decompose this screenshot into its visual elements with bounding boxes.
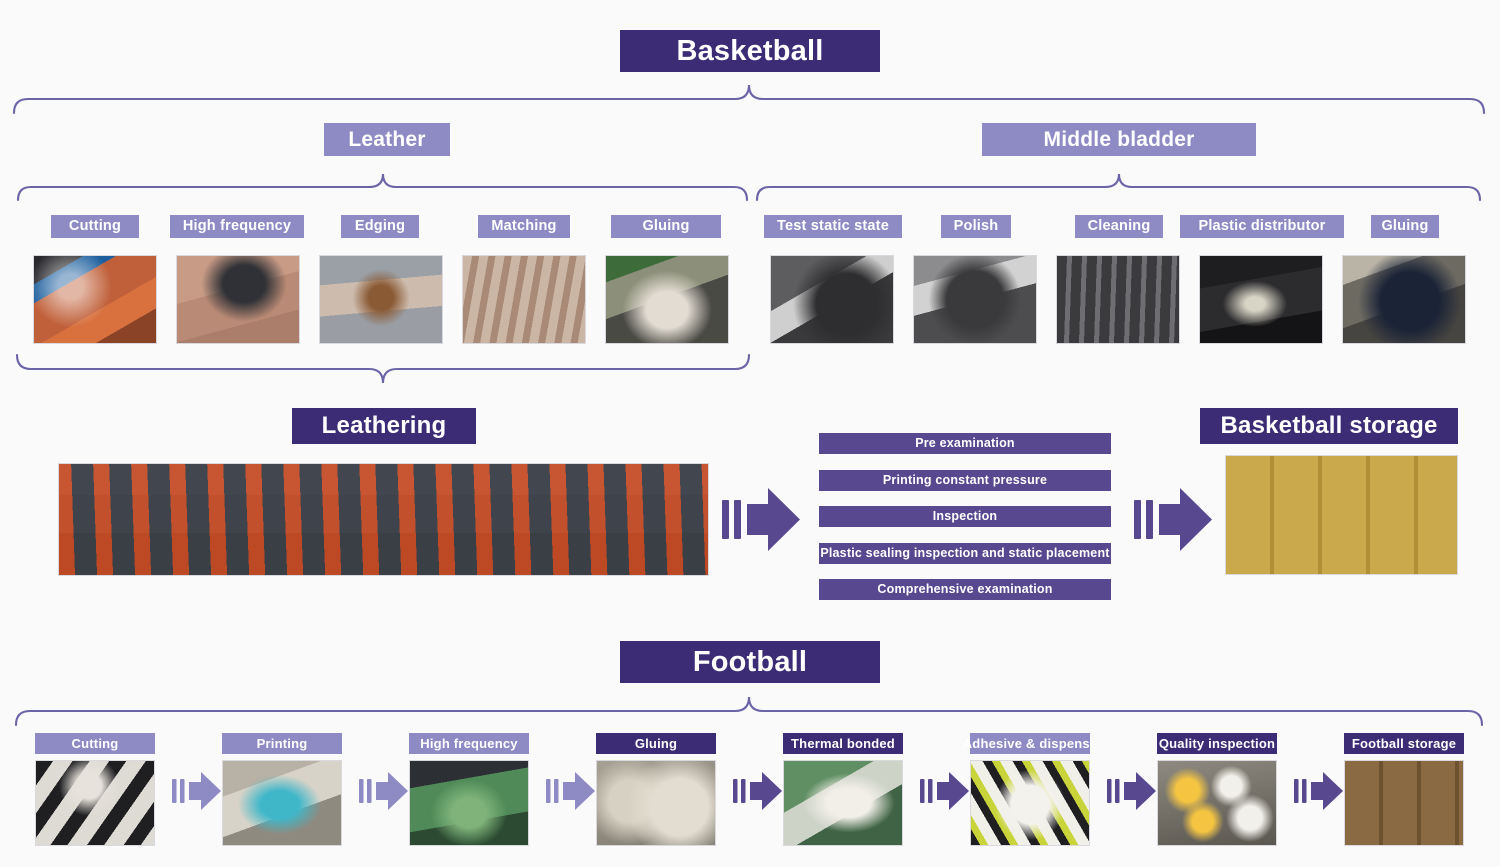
flow-arrow-icon-2: [1134, 488, 1212, 551]
football-step-football-storage: Football storage: [1344, 733, 1464, 754]
basketball-storage-title: Basketball storage: [1200, 408, 1458, 444]
inspection-item-inspection: Inspection: [819, 506, 1111, 527]
bladder-step-polish: Polish: [941, 215, 1011, 238]
flow-arrow-icon-f1: [172, 772, 221, 810]
flow-arrow-icon-f3: [546, 772, 595, 810]
brace-basketball-top: [14, 85, 1484, 113]
football-photo-quality-inspection: [1157, 760, 1277, 846]
football-photo-gluing: [596, 760, 716, 846]
basketball-storage-photo: [1225, 455, 1458, 575]
football-photo-printing: [222, 760, 342, 846]
leather-photo-cutting: [33, 255, 157, 344]
football-step-quality-inspection: Quality inspection: [1157, 733, 1277, 754]
inspection-item-plastic-sealing: Plastic sealing inspection and static pl…: [819, 543, 1111, 564]
leather-photo-gluing: [605, 255, 729, 344]
football-photo-high-frequency: [409, 760, 529, 846]
bladder-photo-plastic-distributor: [1199, 255, 1323, 344]
leather-step-high-frequency: High frequency: [170, 215, 304, 238]
football-step-printing: Printing: [222, 733, 342, 754]
football-step-cutting: Cutting: [35, 733, 155, 754]
leathering-title: Leathering: [292, 408, 476, 444]
bladder-step-cleaning: Cleaning: [1075, 215, 1163, 238]
inspection-item-comprehensive-examination: Comprehensive examination: [819, 579, 1111, 600]
leather-photo-edging: [319, 255, 443, 344]
process-flow-diagram: Basketball Leather Middle bladder Cuttin…: [0, 0, 1500, 867]
leather-step-gluing: Gluing: [611, 215, 721, 238]
football-step-thermal-bonded: Thermal bonded: [783, 733, 903, 754]
flow-arrow-icon-f6: [1107, 772, 1156, 810]
bladder-photo-cleaning: [1056, 255, 1180, 344]
bladder-photo-gluing: [1342, 255, 1466, 344]
flow-arrow-icon-f7: [1294, 772, 1343, 810]
bladder-photo-polish: [913, 255, 1037, 344]
bladder-step-test-static-state: Test static state: [764, 215, 902, 238]
flow-arrow-icon-f5: [920, 772, 969, 810]
brace-middle-bladder: [757, 174, 1480, 200]
football-photo-cutting: [35, 760, 155, 846]
bladder-step-plastic-distributor: Plastic distributor: [1180, 215, 1344, 238]
bladder-photo-test-static-state: [770, 255, 894, 344]
leather-step-matching: Matching: [478, 215, 570, 238]
football-step-high-frequency: High frequency: [409, 733, 529, 754]
football-title: Football: [620, 641, 880, 683]
flow-arrow-icon-f4: [733, 772, 782, 810]
brace-to-leathering: [17, 355, 749, 383]
flow-arrow-icon-f2: [359, 772, 408, 810]
leather-step-cutting: Cutting: [51, 215, 139, 238]
football-photo-adhesive-dispense: [970, 760, 1090, 846]
football-step-gluing: Gluing: [596, 733, 716, 754]
branch-label-middle-bladder: Middle bladder: [982, 123, 1256, 156]
brace-leather: [18, 174, 747, 200]
leather-photo-high-frequency: [176, 255, 300, 344]
leather-photo-matching: [462, 255, 586, 344]
inspection-item-pre-examination: Pre examination: [819, 433, 1111, 454]
leather-step-edging: Edging: [341, 215, 419, 238]
basketball-title: Basketball: [620, 30, 880, 72]
brace-football: [16, 697, 1482, 725]
football-step-adhesive-dispense: Adhesive & dispense: [970, 733, 1090, 754]
branch-label-leather: Leather: [324, 123, 450, 156]
bladder-step-gluing: Gluing: [1371, 215, 1439, 238]
flow-arrow-icon-1: [722, 488, 800, 551]
football-photo-thermal-bonded: [783, 760, 903, 846]
inspection-item-printing-constant-pressure: Printing constant pressure: [819, 470, 1111, 491]
leathering-photo: [58, 463, 709, 576]
football-photo-football-storage: [1344, 760, 1464, 846]
